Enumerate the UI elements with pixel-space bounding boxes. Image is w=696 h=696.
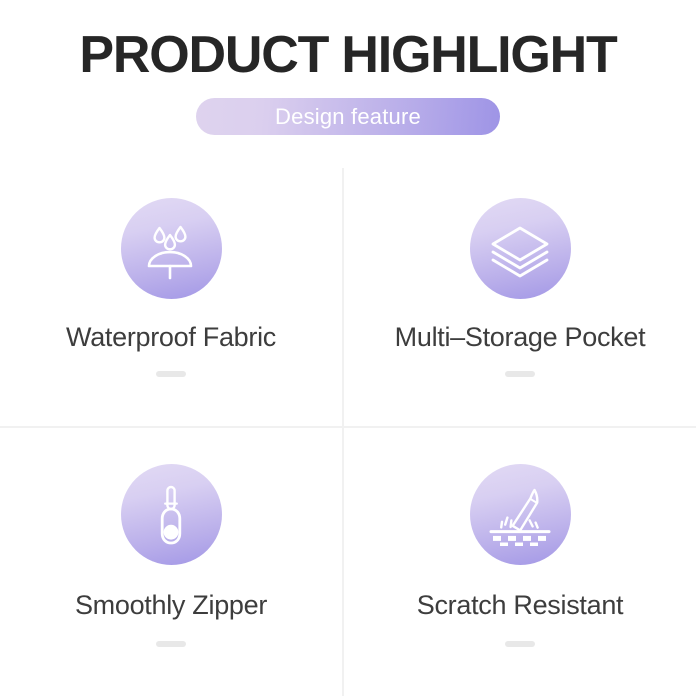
feature-dash bbox=[156, 641, 186, 647]
umbrella-raindrops-icon bbox=[140, 218, 202, 280]
feature-label: Scratch Resistant bbox=[417, 589, 623, 621]
feature-grid: Waterproof Fabric Multi–Storage Pocket bbox=[0, 168, 696, 696]
knife-scratch-surface-icon bbox=[489, 484, 551, 546]
zipper-icon bbox=[140, 484, 202, 546]
header: PRODUCT HIGHLIGHT Design feature bbox=[0, 0, 696, 135]
badge-row: Design feature bbox=[0, 98, 696, 135]
feature-cell-smoothly-zipper: Smoothly Zipper bbox=[0, 428, 344, 696]
feature-label: Waterproof Fabric bbox=[66, 321, 276, 353]
product-highlight-page: PRODUCT HIGHLIGHT Design feature bbox=[0, 0, 696, 696]
design-feature-badge: Design feature bbox=[196, 98, 500, 135]
feature-cell-scratch-resistant: Scratch Resistant bbox=[344, 428, 696, 696]
feature-cell-multi-storage-pocket: Multi–Storage Pocket bbox=[344, 168, 696, 428]
feature-dash bbox=[505, 371, 535, 377]
badge-label: Design feature bbox=[275, 105, 421, 129]
page-title: PRODUCT HIGHLIGHT bbox=[0, 0, 696, 84]
feature-cell-waterproof-fabric: Waterproof Fabric bbox=[0, 168, 344, 428]
layers-stack-icon bbox=[489, 218, 551, 280]
feature-icon-circle bbox=[470, 198, 571, 299]
feature-icon-circle bbox=[121, 198, 222, 299]
feature-dash bbox=[156, 371, 186, 377]
feature-label: Smoothly Zipper bbox=[75, 589, 267, 621]
feature-icon-circle bbox=[470, 464, 571, 565]
feature-dash bbox=[505, 641, 535, 647]
feature-icon-circle bbox=[121, 464, 222, 565]
feature-label: Multi–Storage Pocket bbox=[395, 321, 646, 353]
